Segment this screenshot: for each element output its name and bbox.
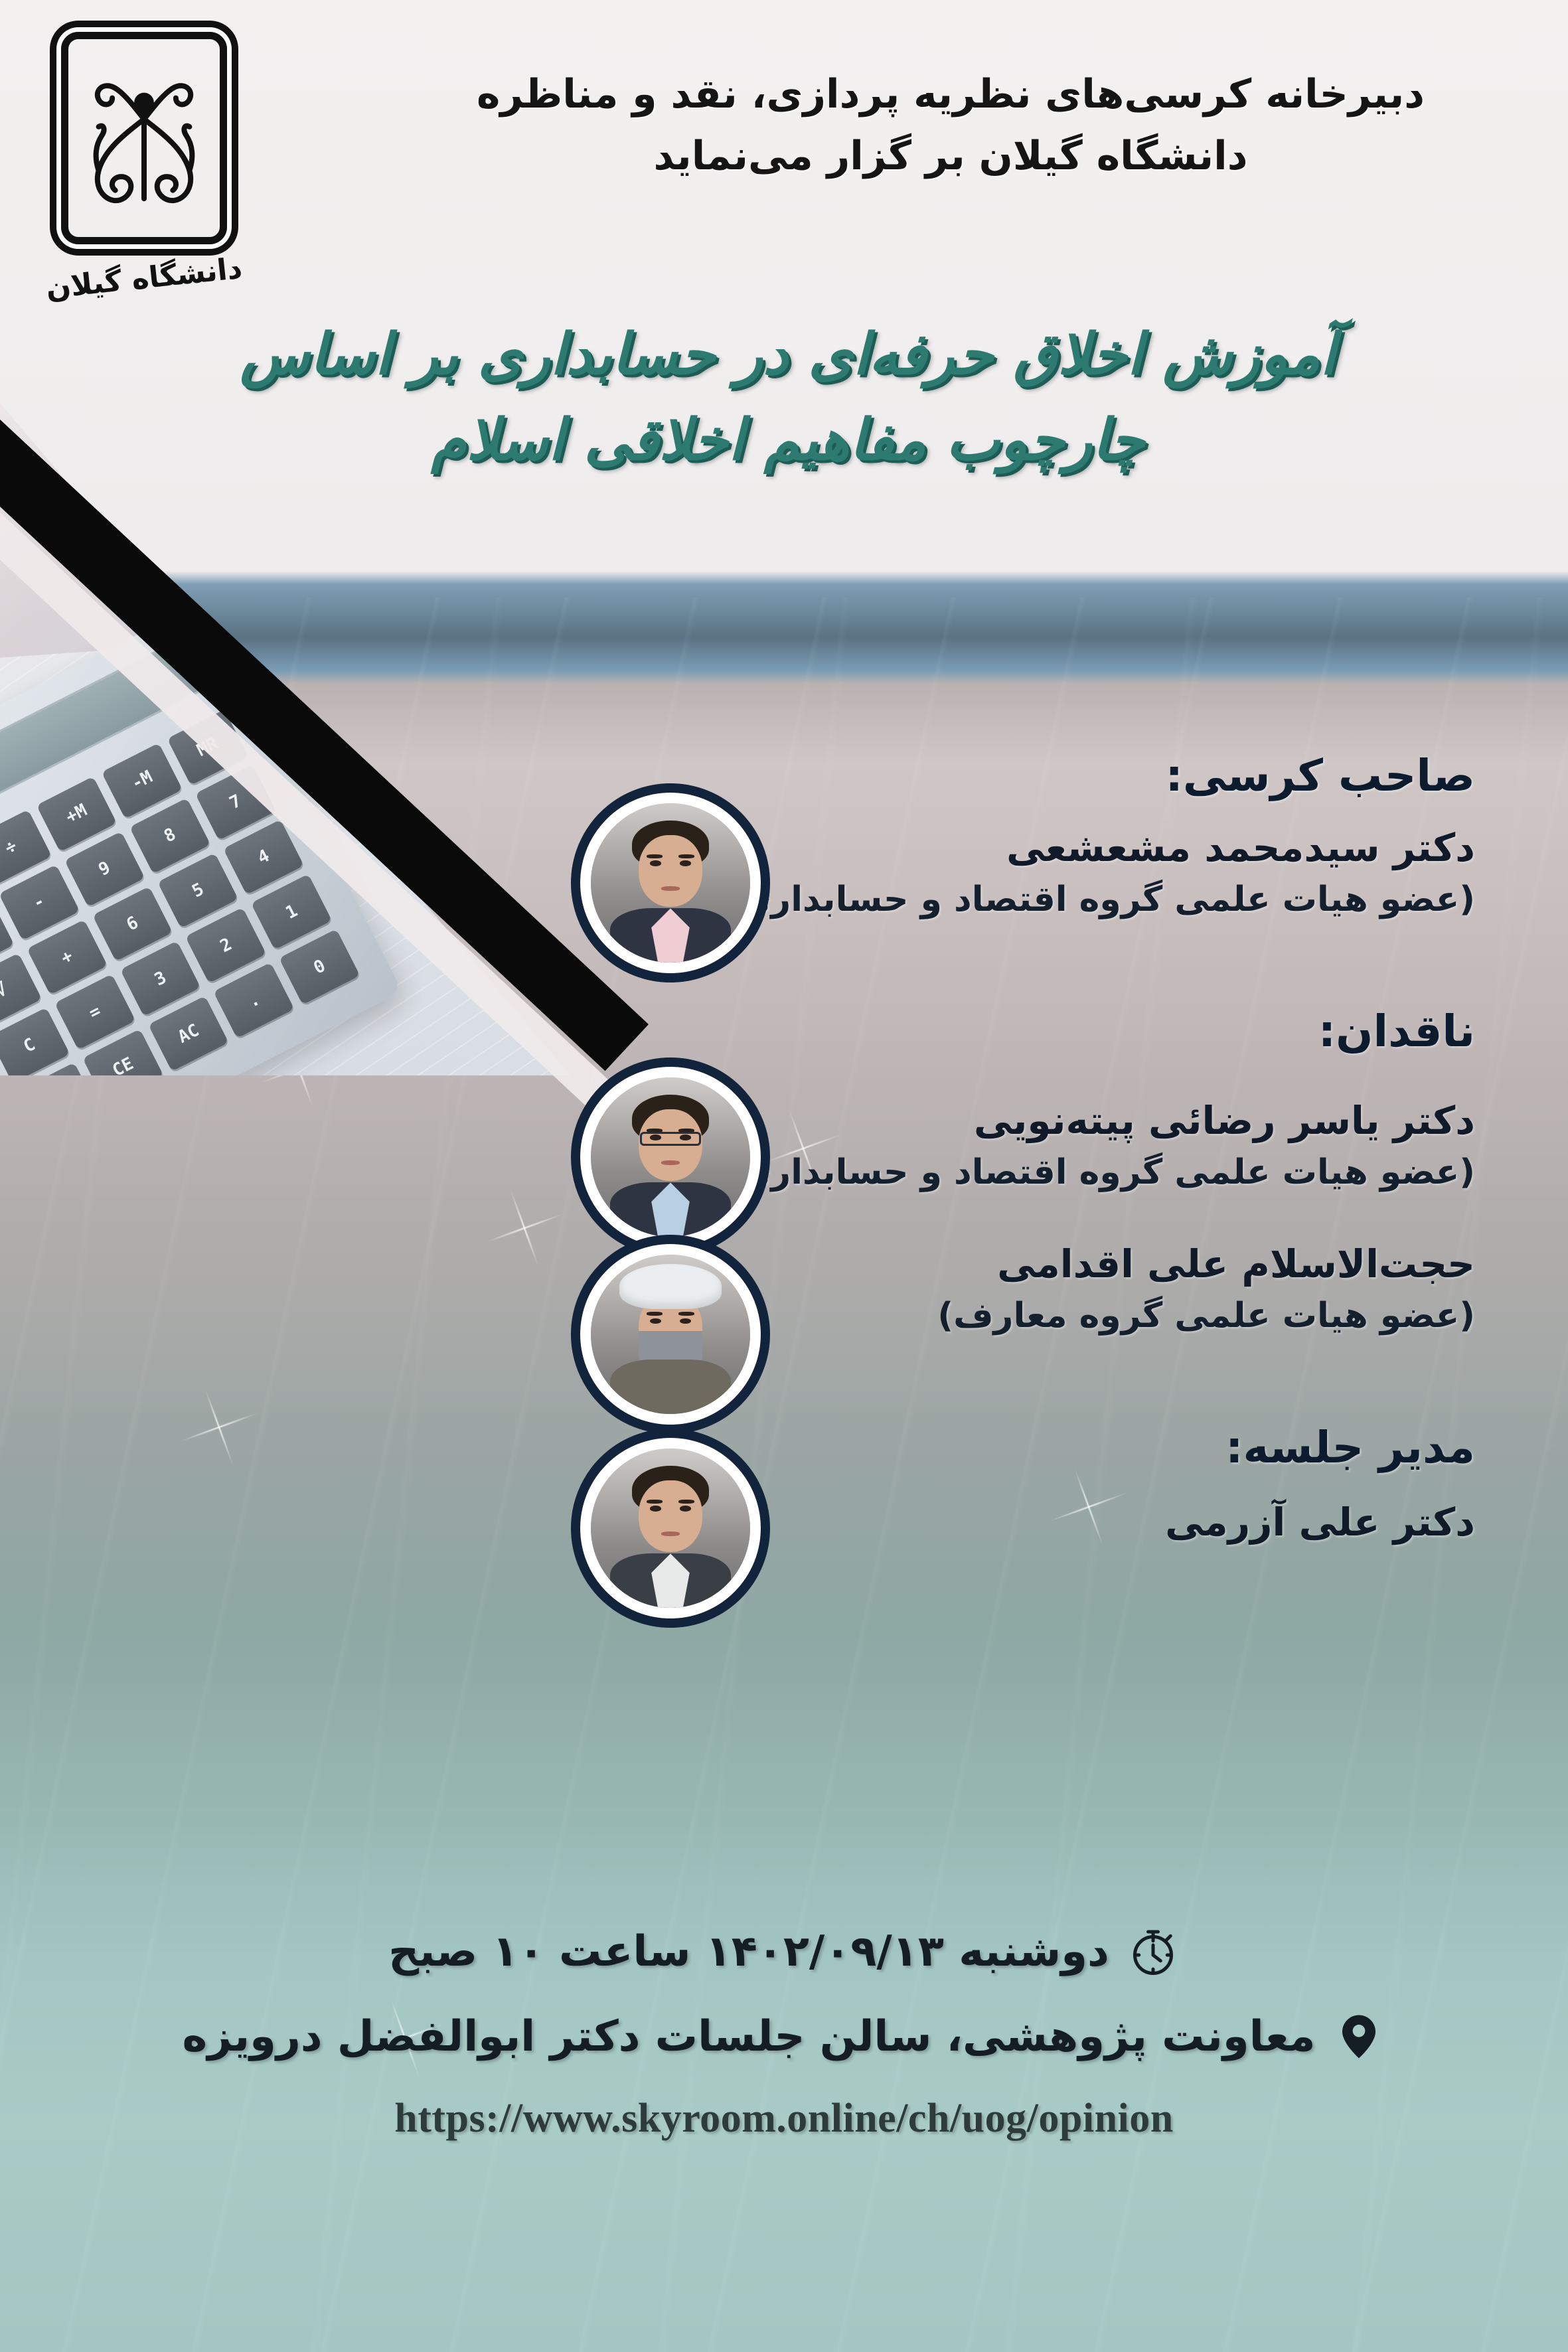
speaker-affiliation: (عضو هیات علمی گروه معارف): [0, 1296, 1568, 1336]
event-poster: دانشگاه گیلان دبیرخانه کرسی‌های نظریه پر…: [0, 0, 1568, 2352]
map-pin-icon: [1332, 2010, 1385, 2063]
meeting-link[interactable]: https://www.skyroom.online/ch/uog/opinio…: [0, 2095, 1568, 2142]
speaker-affiliation: (عضو هیات علمی گروه اقتصاد و حسابداری): [0, 1152, 1568, 1192]
role-label: مدیر جلسه:: [0, 1422, 1568, 1473]
speaker-block-chair: صاحب کرسی: دکتر سیدمحمد مشعشعی (عضو هیات…: [0, 750, 1568, 919]
speaker-block-moderator: مدیر جلسه: دکتر علی آزرمی: [0, 1422, 1568, 1545]
datetime-row: دوشنبه ۱۴۰۲/۰۹/۱۳ ساعت ۱۰ صبح: [0, 1925, 1568, 1978]
avatar: [571, 1235, 770, 1434]
event-datetime: دوشنبه ۱۴۰۲/۰۹/۱۳ ساعت ۱۰ صبح: [388, 1927, 1109, 1976]
title-line-2: چارچوب مفاهیم اخلاقی اسلام: [108, 398, 1468, 483]
avatar: [571, 783, 770, 982]
speakers-section: صاحب کرسی: دکتر سیدمحمد مشعشعی (عضو هیات…: [0, 750, 1568, 1545]
university-of-gilan-emblem-icon: [61, 32, 227, 244]
speaker-affiliation: (عضو هیات علمی گروه اقتصاد و حسابداری): [0, 880, 1568, 919]
speaker-name: دکتر علی آزرمی: [0, 1500, 1568, 1545]
event-location: معاونت پژوهشی، سالن جلسات دکتر ابوالفضل …: [183, 2012, 1316, 2061]
organizer-line-1: دبیرخانه کرسی‌های نظریه پردازی، نقد و من…: [413, 64, 1488, 125]
speaker-name: دکتر یاسر رضائی پیته‌نویی: [0, 1098, 1568, 1143]
location-row: معاونت پژوهشی، سالن جلسات دکتر ابوالفضل …: [0, 2010, 1568, 2063]
organizer-header: دبیرخانه کرسی‌های نظریه پردازی، نقد و من…: [413, 64, 1488, 187]
role-label: ناقدان:: [0, 1006, 1568, 1057]
speaker-name: حجت‌الاسلام علی اقدامی: [0, 1241, 1568, 1287]
speaker-block-critic-1: ناقدان: دکتر یاسر رضائی پیته‌نویی (عضو ه…: [0, 1006, 1568, 1192]
avatar: [571, 1429, 770, 1628]
speaker-name: دکتر سیدمحمد مشعشعی: [0, 825, 1568, 870]
page-title: آموزش اخلاق حرفه‌ای در حسابداری بر اساس …: [108, 312, 1468, 483]
university-logo: دانشگاه گیلان: [35, 32, 254, 295]
avatar: [571, 1058, 770, 1257]
event-footer: دوشنبه ۱۴۰۲/۰۹/۱۳ ساعت ۱۰ صبح معاونت پژو…: [0, 1925, 1568, 2142]
role-label: صاحب کرسی:: [0, 750, 1568, 801]
organizer-line-2: دانشگاه گیلان بر گزار می‌نماید: [413, 125, 1488, 187]
logo-caption: دانشگاه گیلان: [33, 250, 255, 307]
stopwatch-icon: [1127, 1925, 1180, 1978]
title-line-1: آموزش اخلاق حرفه‌ای در حسابداری بر اساس: [108, 312, 1468, 398]
speaker-block-critic-2: حجت‌الاسلام علی اقدامی (عضو هیات علمی گر…: [0, 1241, 1568, 1336]
